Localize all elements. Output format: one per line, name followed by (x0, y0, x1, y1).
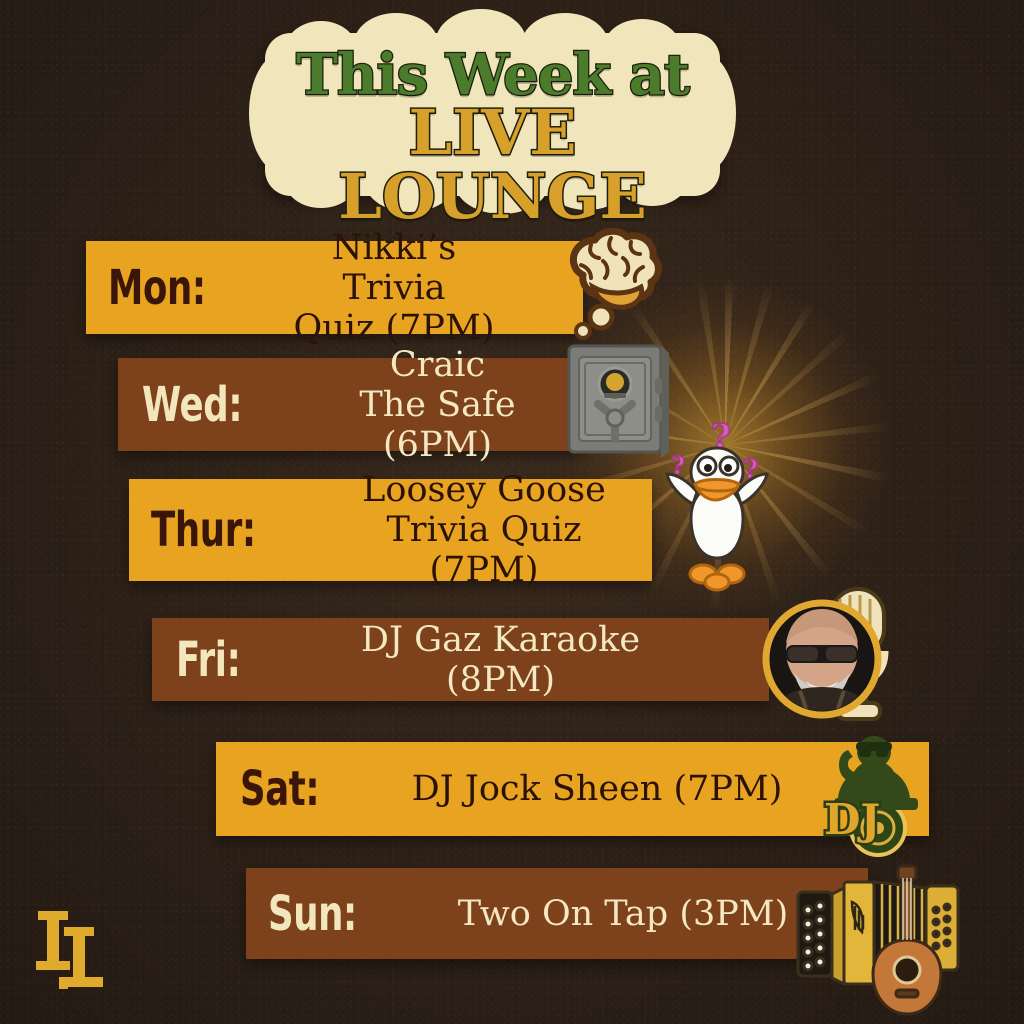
title-line-2: LIVE LOUNGE (265, 101, 720, 229)
goose-icon: ? ? ? (655, 412, 780, 592)
event-text-monday: Nikki’s Trivia Quiz (7PM) (283, 228, 505, 348)
day-label-saturday: Sat: (240, 765, 347, 813)
poster-canvas: This Week at LIVE LOUNGE Mon: Nikki’s Tr… (0, 0, 1024, 1024)
svg-text:DJ: DJ (824, 795, 880, 844)
event-text-sunday: Two On Tap (3PM) (433, 894, 813, 934)
event-text-saturday: DJ Jock Sheen (7PM) (385, 769, 809, 809)
schedule-row-friday[interactable]: Fri: DJ Gaz Karaoke (8PM) (152, 618, 769, 701)
brain-icon (545, 225, 680, 340)
day-label-wednesday: Wed: (142, 381, 275, 429)
day-label-monday: Mon: (108, 264, 238, 312)
day-label-sunday: Sun: (268, 890, 390, 938)
event-text-friday: DJ Gaz Karaoke (8PM) (304, 620, 697, 700)
accordion-guitar-icon (792, 858, 967, 1018)
event-text-thursday: Loosey Goose Trivia Quiz (7PM) (346, 470, 622, 590)
schedule-row-wednesday[interactable]: Wed: Craic The Safe (6PM) (118, 358, 583, 451)
schedule-row-sunday[interactable]: Sun: Two On Tap (3PM) (246, 868, 868, 959)
schedule-row-monday[interactable]: Mon: Nikki’s Trivia Quiz (7PM) (86, 241, 583, 334)
live-lounge-logo[interactable] (28, 905, 114, 995)
dj-turntable-icon: DJ (818, 728, 923, 858)
title-text-block: This Week at LIVE LOUNGE (265, 33, 720, 196)
poster-title-sticker: This Week at LIVE LOUNGE (265, 33, 720, 196)
day-label-thursday: Thur: (151, 506, 295, 554)
event-text-wednesday: Craic The Safe (6PM) (322, 345, 553, 465)
schedule-row-thursday[interactable]: Thur: Loosey Goose Trivia Quiz (7PM) (129, 479, 652, 581)
dj-photo-microphone-icon (762, 585, 897, 730)
day-label-friday: Fri: (176, 636, 271, 684)
